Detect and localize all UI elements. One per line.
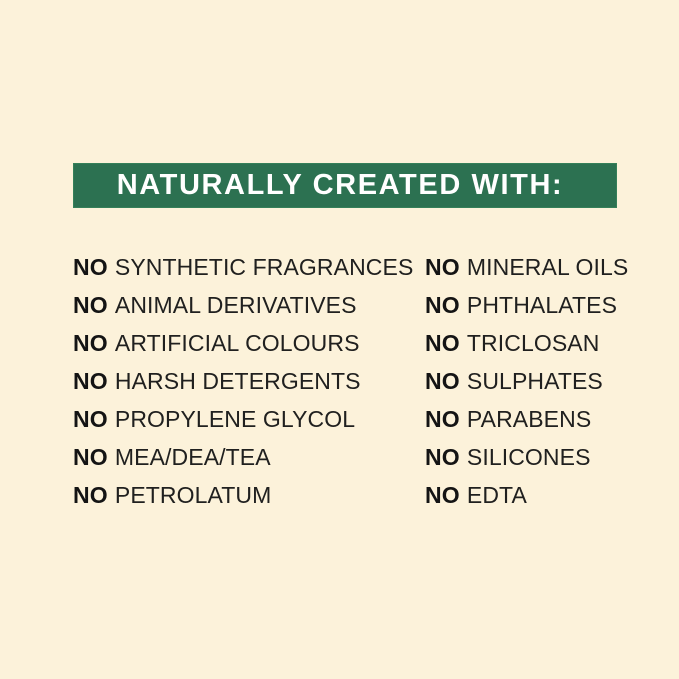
claim-row: NO ARTIFICIAL COLOURS	[73, 324, 425, 362]
claim-prefix: NO	[425, 294, 460, 317]
claim-prefix: NO	[73, 256, 108, 279]
claim-row: NO PHTHALATES	[425, 286, 617, 324]
claim-label: PARABENS	[467, 408, 591, 431]
claim-prefix: NO	[425, 446, 460, 469]
claim-row: NO SULPHATES	[425, 362, 617, 400]
claim-prefix: NO	[73, 408, 108, 431]
claim-label: PHTHALATES	[467, 294, 617, 317]
claim-label: SULPHATES	[467, 370, 603, 393]
claim-row: NO ANIMAL DERIVATIVES	[73, 286, 425, 324]
claim-label: TRICLOSAN	[467, 332, 600, 355]
claim-label: PETROLATUM	[115, 484, 271, 507]
claim-row: NO MEA/DEA/TEA	[73, 438, 425, 476]
claim-row: NO SYNTHETIC FRAGRANCES	[73, 248, 425, 286]
claim-label: PROPYLENE GLYCOL	[115, 408, 355, 431]
ingredient-claims-poster: NATURALLY CREATED WITH: NO SYNTHETIC FRA…	[0, 0, 679, 679]
claim-prefix: NO	[425, 332, 460, 355]
claim-prefix: NO	[73, 370, 108, 393]
claim-label: EDTA	[467, 484, 527, 507]
claims-column-left: NO SYNTHETIC FRAGRANCES NO ANIMAL DERIVA…	[73, 248, 425, 514]
banner-title: NATURALLY CREATED WITH:	[117, 171, 564, 200]
claim-prefix: NO	[73, 294, 108, 317]
claim-label: ARTIFICIAL COLOURS	[115, 332, 360, 355]
claim-label: SILICONES	[467, 446, 591, 469]
claim-label: ANIMAL DERIVATIVES	[115, 294, 357, 317]
claim-row: NO PROPYLENE GLYCOL	[73, 400, 425, 438]
claim-prefix: NO	[73, 484, 108, 507]
claim-prefix: NO	[425, 256, 460, 279]
claim-label: SYNTHETIC FRAGRANCES	[115, 256, 413, 279]
claim-row: NO PARABENS	[425, 400, 617, 438]
claim-row: NO MINERAL OILS	[425, 248, 617, 286]
claim-label: HARSH DETERGENTS	[115, 370, 361, 393]
claims-columns: NO SYNTHETIC FRAGRANCES NO ANIMAL DERIVA…	[73, 248, 617, 514]
claim-row: NO PETROLATUM	[73, 476, 425, 514]
claim-row: NO TRICLOSAN	[425, 324, 617, 362]
claim-prefix: NO	[73, 332, 108, 355]
claims-column-right: NO MINERAL OILS NO PHTHALATES NO TRICLOS…	[425, 248, 617, 514]
claim-label: MEA/DEA/TEA	[115, 446, 271, 469]
claim-prefix: NO	[425, 370, 460, 393]
claim-label: MINERAL OILS	[467, 256, 628, 279]
claim-row: NO EDTA	[425, 476, 617, 514]
banner-naturally-created-with: NATURALLY CREATED WITH:	[73, 163, 617, 208]
claim-row: NO SILICONES	[425, 438, 617, 476]
claim-prefix: NO	[73, 446, 108, 469]
claim-prefix: NO	[425, 408, 460, 431]
claim-row: NO HARSH DETERGENTS	[73, 362, 425, 400]
claim-prefix: NO	[425, 484, 460, 507]
